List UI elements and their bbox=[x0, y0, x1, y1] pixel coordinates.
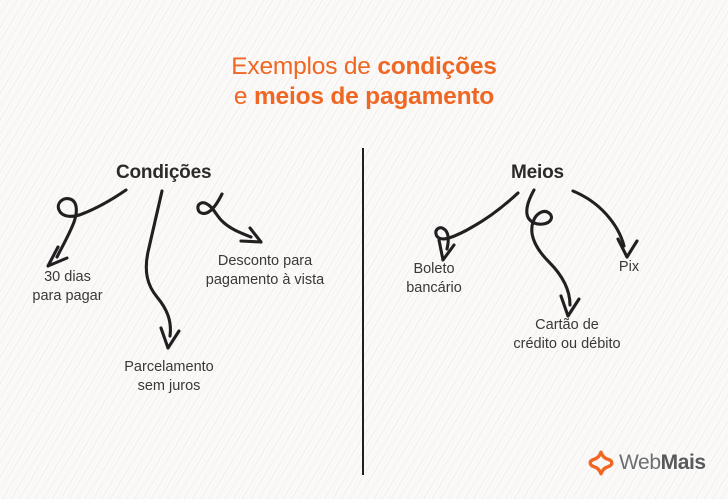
page-title-line-1-light: Exemplos de bbox=[231, 53, 377, 80]
logo-text-web: Web bbox=[619, 451, 661, 474]
arrow-to-parcelamento-icon bbox=[146, 191, 179, 348]
column-heading-condicoes: Condições bbox=[116, 162, 211, 184]
webmais-logo[interactable]: WebMais bbox=[588, 450, 706, 476]
logo-text-mais: Mais bbox=[661, 451, 706, 474]
column-heading-meios: Meios bbox=[511, 162, 564, 184]
arrow-to-boleto-icon bbox=[436, 193, 518, 260]
page-title: Exemplos de condições e meios de pagamen… bbox=[0, 52, 728, 112]
item-label-pix: Pix bbox=[596, 258, 662, 277]
webmais-logo-text: WebMais bbox=[619, 451, 706, 475]
item-label-cartao-credito-ou-debito: Cartão de crédito ou débito bbox=[479, 316, 655, 354]
quatrefoil-icon bbox=[588, 450, 614, 476]
page-title-line-2-bold: meios de pagamento bbox=[254, 83, 494, 110]
column-divider bbox=[362, 148, 364, 475]
arrow-to-30-dias-icon bbox=[48, 190, 126, 266]
page-title-line-2: e meios de pagamento bbox=[0, 82, 728, 112]
item-label-parcelamento-sem-juros: Parcelamento sem juros bbox=[95, 358, 243, 396]
item-label-desconto-pagamento-a-vista: Desconto para pagamento à vista bbox=[182, 252, 348, 290]
page-title-line-2-light: e bbox=[234, 83, 254, 110]
infographic-canvas: Exemplos de condições e meios de pagamen… bbox=[0, 0, 728, 499]
arrow-to-cartao-icon bbox=[527, 190, 579, 316]
item-label-boleto-bancario: Boleto bancário bbox=[382, 260, 486, 298]
item-label-30-dias-para-pagar: 30 dias para pagar bbox=[10, 268, 125, 306]
page-title-line-1: Exemplos de condições bbox=[0, 52, 728, 82]
arrow-to-desconto-icon bbox=[198, 194, 261, 242]
arrow-to-pix-icon bbox=[573, 191, 637, 257]
page-title-line-1-bold: condições bbox=[377, 53, 496, 80]
